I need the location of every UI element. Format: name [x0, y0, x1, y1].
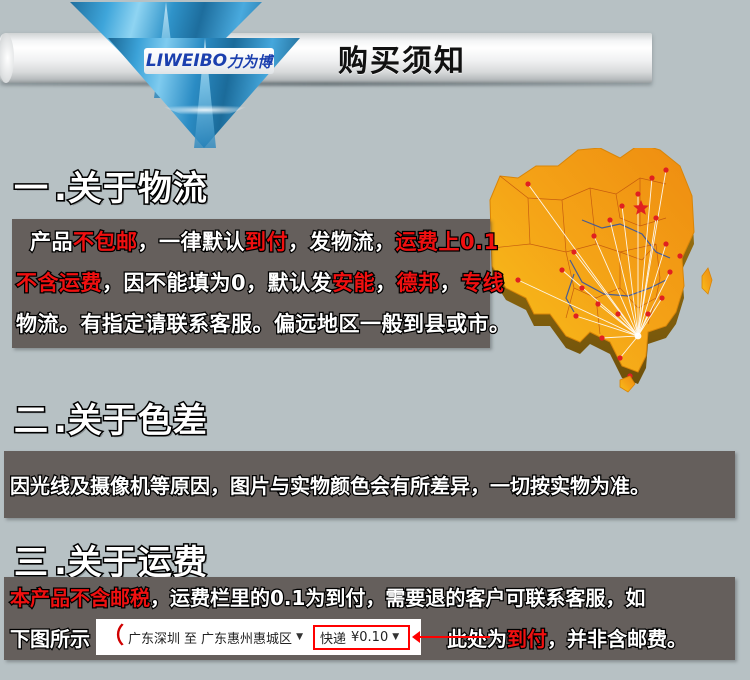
- chevron-down-icon[interactable]: ▼: [296, 632, 303, 642]
- arrow-line: [418, 636, 490, 638]
- logo-nameplate: LIWEIBO 力为博: [144, 48, 274, 74]
- text-run-highlight: 安能: [332, 271, 375, 295]
- section-2-heading: 二.关于色差: [14, 393, 208, 442]
- ship-method-label: 快递: [320, 628, 346, 647]
- section-1-heading: 一.关于物流: [14, 161, 208, 210]
- section-1-panel: 产品不包邮，一律默认到付，发物流，运费上0.1 不含运费，因不能填为0，默认发安…: [12, 219, 490, 348]
- text-run-highlight: 本产品不含邮税: [10, 586, 150, 610]
- section-1-line-3: 物流。有指定请联系客服。偏远地区一般到县或市。: [12, 308, 494, 338]
- text-run: ，发物流，: [288, 230, 396, 254]
- text-run: ，: [375, 271, 397, 295]
- text-run: 此处为: [447, 627, 507, 651]
- text-run-highlight: 到付: [245, 230, 288, 254]
- text-run: 产品: [30, 230, 73, 254]
- text-run-highlight: 运费上0.1: [396, 230, 499, 254]
- section-1-number: 一: [14, 169, 54, 209]
- section-1-dot: .: [54, 169, 68, 209]
- arrow-head-icon: [412, 631, 420, 643]
- section-3-panel: 本产品不含邮税，运费栏里的0.1为到付，需要退的客户可联系客服，如 下图所示 （…: [4, 577, 735, 660]
- text-run: 物流。有指定请联系客服。偏远地区一般到县或市。: [16, 312, 511, 336]
- purchase-notice-page: LIWEIBO 力为博 购买须知: [0, 0, 750, 680]
- shipping-row-prefix: 下图所示: [10, 623, 90, 652]
- text-run: ，运费栏里的0.1为到付，需要退的客户可联系客服，如: [150, 586, 645, 610]
- ship-connector: 至: [184, 628, 197, 647]
- section-2-dot: .: [54, 401, 68, 441]
- map-hub-marker: [635, 333, 642, 340]
- ship-from-city: 广东深圳: [128, 628, 180, 647]
- section-2-line-1: 因光线及摄像机等原因，图片与实物颜色会有所差异，一切按实物为准。: [4, 470, 741, 499]
- text-run: ，一律默认: [138, 230, 246, 254]
- china-map-svg: [470, 148, 750, 393]
- section-1-title: 关于物流: [68, 169, 208, 209]
- brand-logo: LIWEIBO 力为博: [70, 0, 300, 140]
- text-run-highlight: 不含运费: [16, 271, 102, 295]
- ship-to-district[interactable]: 广东惠州惠城区: [201, 628, 292, 647]
- ship-fee-amount: ¥0.10: [351, 630, 388, 645]
- section-1-line-2: 不含运费，因不能填为0，默认发安能，德邦，专线: [12, 267, 494, 297]
- section-2-title: 关于色差: [68, 401, 208, 441]
- map-island-taiwan: [702, 268, 712, 294]
- logo-chinese-text: 力为博: [227, 51, 272, 72]
- open-paren: （: [102, 626, 124, 648]
- chevron-down-icon[interactable]: ▼: [392, 632, 399, 642]
- section-2-number: 二: [14, 401, 54, 441]
- page-title: 购买须知: [338, 36, 466, 80]
- text-run: ，因不能填为0，默认发: [102, 271, 332, 295]
- section-3-line-1: 本产品不含邮税，运费栏里的0.1为到付，需要退的客户可联系客服，如: [4, 582, 741, 611]
- text-run: 因光线及摄像机等原因，图片与实物颜色会有所差异，一切按实物为准。: [10, 474, 650, 498]
- text-run-highlight: 专线: [461, 271, 504, 295]
- text-run-highlight: 到付: [507, 627, 547, 651]
- map-top-face: [490, 148, 712, 392]
- section-1-line-1: 产品不包邮，一律默认到付，发物流，运费上0.1: [12, 226, 508, 256]
- logo-gloss-highlight: [150, 105, 260, 115]
- shipping-example-row: 下图所示 （ 广东深圳 至 广东惠州惠城区 ▼ 快递 ¥0.10 ▼ 此处为到: [10, 619, 687, 655]
- page-header: LIWEIBO 力为博 购买须知: [0, 0, 750, 150]
- shipping-fee-selector[interactable]: 快递 ¥0.10 ▼: [313, 625, 410, 650]
- shipping-fee-widget[interactable]: （ 广东深圳 至 广东惠州惠城区 ▼ 快递 ¥0.10 ▼: [96, 619, 421, 655]
- text-run: ，: [440, 271, 462, 295]
- text-run-highlight: 德邦: [397, 271, 440, 295]
- text-run: ，并非含邮费。: [547, 627, 687, 651]
- logo-latin-text: LIWEIBO: [146, 51, 227, 71]
- annotation-arrow: [412, 630, 421, 644]
- section-2-panel: 因光线及摄像机等原因，图片与实物颜色会有所差异，一切按实物为准。: [4, 451, 735, 518]
- china-logistics-map: [470, 148, 750, 393]
- text-run-highlight: 不包邮: [73, 230, 138, 254]
